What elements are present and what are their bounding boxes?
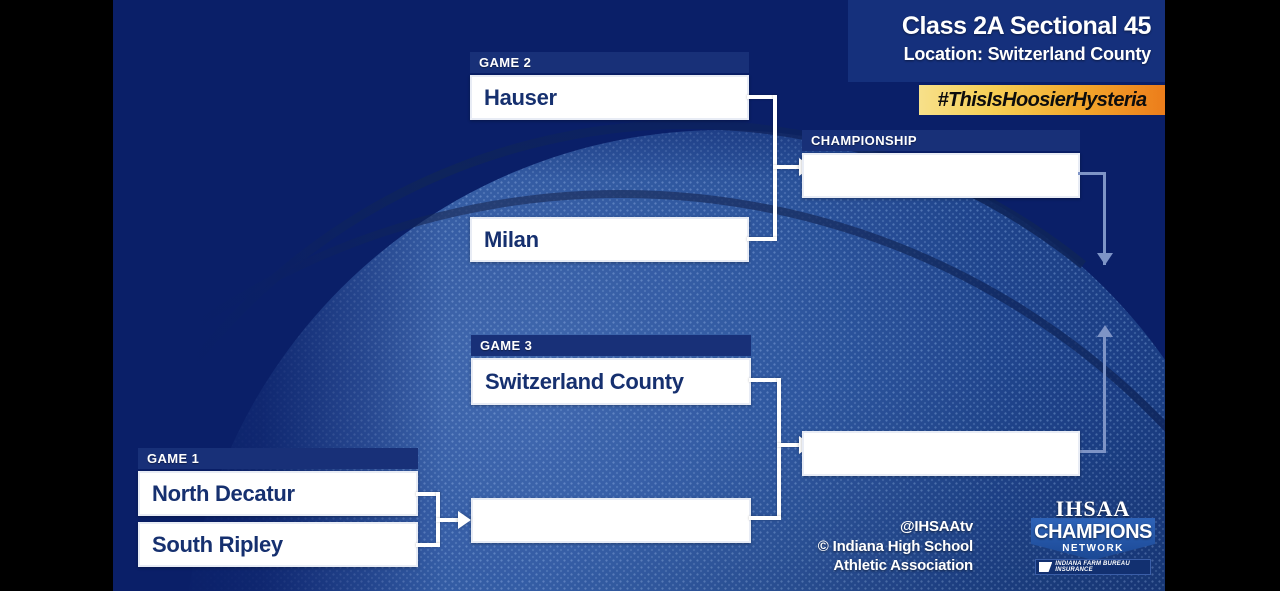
credits-line-2: © Indiana High School [743,537,973,556]
letterbox-right [1165,0,1280,591]
farm-bureau-mark-icon [1039,562,1052,572]
logo-network-text: NETWORK [1025,543,1161,554]
connector-line [777,378,781,518]
game-1-team-bottom-name: South Ripley [140,532,283,558]
screenshot-root: Class 2A Sectional 45 Location: Switzerl… [0,0,1280,591]
connector-line [773,165,801,169]
game-2-team-top-name: Hauser [472,85,557,111]
game-3-label: GAME 3 [471,335,751,356]
connector-arrow-down-icon [1097,253,1113,265]
credits-line-3: Athletic Association [743,556,973,575]
game-1-team-bottom-slot[interactable]: South Ripley [138,522,418,567]
connector-line-grey [1078,450,1106,453]
game-3-team-top-name: Switzerland County [473,369,684,395]
page-title: Class 2A Sectional 45 [113,12,1151,41]
game-2-label: GAME 2 [470,52,749,73]
sponsor-badge: INDIANA FARM BUREAU INSURANCE [1035,559,1151,575]
credits-block: @IHSAAtv © Indiana High School Athletic … [743,517,973,575]
semifinal-lower-slot[interactable] [802,431,1080,476]
hashtag-text: #ThisIsHoosierHysteria [937,89,1146,112]
game-2-team-top-slot[interactable]: Hauser [470,75,749,120]
connector-line [416,543,440,547]
connector-line [747,237,777,241]
game-1-label: GAME 1 [138,448,418,469]
letterbox-left [0,0,113,591]
connector-line-grey [1078,172,1106,175]
connector-line [777,443,801,447]
game-2-team-bottom-slot[interactable]: Milan [470,217,749,262]
championship-label: CHAMPIONSHIP [802,130,1080,151]
connector-arrow-icon [458,511,471,529]
game-3-team-top-slot[interactable]: Switzerland County [471,358,751,405]
logo-champions-text: CHAMPIONS [1025,521,1161,544]
game-2-team-bottom-name: Milan [472,227,539,253]
championship-slot[interactable] [802,153,1080,198]
game-3-team-bottom-slot[interactable] [471,498,751,543]
game-1-team-top-name: North Decatur [140,481,295,507]
game-1-team-top-slot[interactable]: North Decatur [138,471,418,516]
connector-line [436,518,460,522]
sponsor-text: INDIANA FARM BUREAU INSURANCE [1055,561,1150,574]
connector-line-grey [1103,336,1106,453]
hashtag-banner: #ThisIsHoosierHysteria [919,85,1165,115]
ihsaa-champions-network-logo: IHSAA CHAMPIONS NETWORK INDIANA FARM BUR… [1025,496,1161,580]
connector-line-grey [1103,172,1106,265]
credits-handle: @IHSAAtv [743,517,973,536]
broadcast-frame: Class 2A Sectional 45 Location: Switzerl… [113,0,1165,591]
logo-org-text: IHSAA [1025,496,1161,522]
